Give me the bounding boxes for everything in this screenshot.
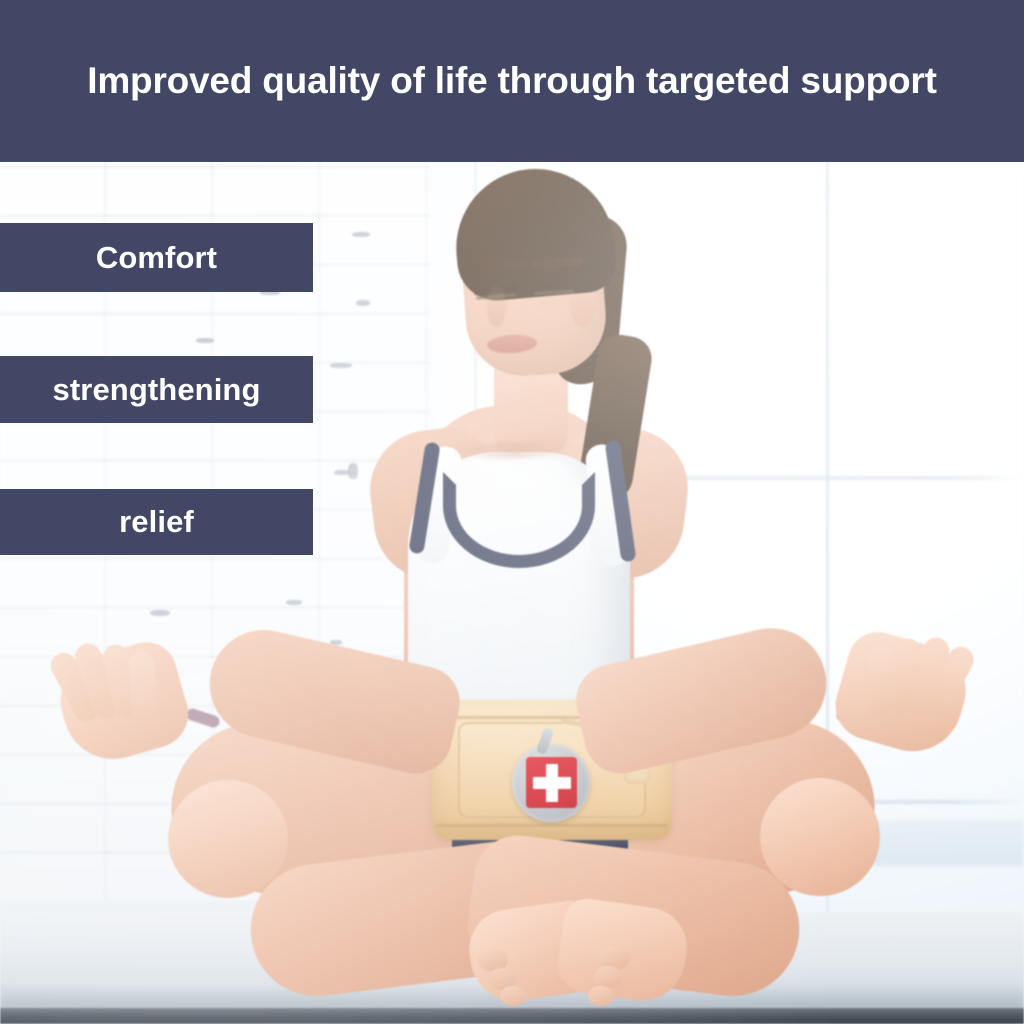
benefit-tag-relief: relief: [0, 489, 313, 555]
right-knee: [760, 778, 880, 896]
benefit-tag-label: Comfort: [96, 240, 217, 276]
toe: [588, 986, 614, 1006]
promo-image-canvas: Improved quality of life through targete…: [0, 0, 1024, 1024]
benefit-tag-comfort: Comfort: [0, 223, 313, 292]
cross-icon-horizontal: [533, 777, 571, 789]
belt-seam: [436, 824, 668, 827]
header-banner: Improved quality of life through targete…: [0, 0, 1024, 162]
left-knee: [168, 780, 288, 898]
toe: [500, 986, 526, 1006]
nose: [487, 283, 506, 327]
page-title: Improved quality of life through targete…: [53, 60, 970, 102]
benefit-tag-strengthening: strengthening: [0, 356, 313, 423]
right-thumb: [866, 645, 897, 717]
hair: [450, 162, 619, 303]
left-thumb: [128, 651, 159, 721]
toe: [594, 966, 622, 988]
benefit-tag-label: relief: [119, 504, 194, 540]
benefit-tag-label: strengthening: [53, 372, 261, 408]
